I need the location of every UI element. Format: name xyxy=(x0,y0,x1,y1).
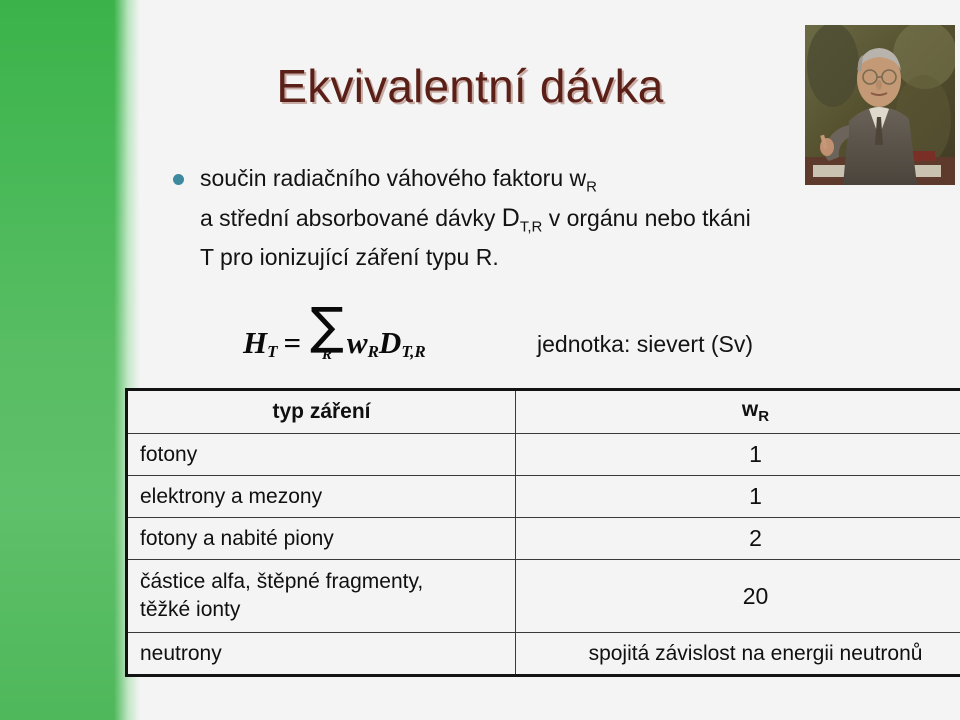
portrait-artwork xyxy=(805,25,955,185)
page-title: Ekvivalentní dávka xyxy=(150,58,790,114)
cell-type-line-2: těžké ionty xyxy=(140,596,503,624)
equation-summation: ∑R xyxy=(307,305,347,362)
cell-value: 20 xyxy=(516,560,960,633)
bullet-line-3: T pro ionizující záření typu R. xyxy=(200,242,860,272)
cell-type: elektrony a mezony xyxy=(127,476,516,518)
table-body: fotony 1 elektrony a mezony 1 fotony a n… xyxy=(127,434,960,676)
table-row: fotony 1 xyxy=(127,434,960,476)
column-header-wr: wR xyxy=(516,390,960,434)
table-row: elektrony a mezony 1 xyxy=(127,476,960,518)
bullet-line-2-variable: D xyxy=(502,204,520,232)
column-header-wr-subscript: R xyxy=(758,409,769,426)
equation-term-w-subscript: R xyxy=(368,342,379,361)
cell-value: 1 xyxy=(516,476,960,518)
radiation-weighting-table: typ záření wR fotony 1 elektrony a mezon… xyxy=(125,388,960,677)
equation-lhs: H xyxy=(243,325,267,360)
slide: Ekvivalentní dávka součin radiačního váh… xyxy=(0,0,960,720)
equation-term-w: w xyxy=(347,325,368,360)
bullet-item: součin radiačního váhového faktoru wR a … xyxy=(170,163,860,272)
bullet-line-1-text: součin radiačního váhového faktoru w xyxy=(200,165,586,191)
bullet-line-2-post: v orgánu nebo tkáni xyxy=(542,205,750,231)
bullet-dot-icon xyxy=(173,174,184,185)
bullet-line-2: a střední absorbované dávky DT,R v orgán… xyxy=(200,203,860,243)
portrait-image xyxy=(805,25,955,185)
cell-type: fotony xyxy=(127,434,516,476)
cell-type: částice alfa, štěpné fragmenty,těžké ion… xyxy=(127,560,516,633)
cell-value: 1 xyxy=(516,434,960,476)
column-header-wr-main: w xyxy=(742,398,758,421)
bullet-line-2-pre: a střední absorbované dávky xyxy=(200,205,502,231)
cell-type: fotony a nabité piony xyxy=(127,518,516,560)
cell-type-line-1: částice alfa, štěpné fragmenty, xyxy=(140,568,503,596)
table-row: fotony a nabité piony 2 xyxy=(127,518,960,560)
equation-image: HT=∑RwRDT,R xyxy=(243,305,426,362)
unit-caption: jednotka: sievert (Sv) xyxy=(537,331,753,358)
equation-term-d: D xyxy=(379,325,401,360)
sigma-icon: ∑ xyxy=(310,305,344,347)
table-header-row: typ záření wR xyxy=(127,390,960,434)
bullet-line-1: součin radiačního váhového faktoru wR xyxy=(200,163,860,203)
table-row: částice alfa, štěpné fragmenty,těžké ion… xyxy=(127,560,960,633)
equation-term-d-subscript: T,R xyxy=(401,342,425,361)
equation-lhs-subscript: T xyxy=(267,342,277,361)
sidebar-decoration xyxy=(0,0,140,720)
bullet-line-2-subscript: T,R xyxy=(520,218,543,235)
equation-equals-sign: = xyxy=(278,325,308,360)
table-head: typ záření wR xyxy=(127,390,960,434)
cell-value: 2 xyxy=(516,518,960,560)
column-header-type: typ záření xyxy=(127,390,516,434)
cell-value: spojitá závislost na energii neutronů xyxy=(516,633,960,676)
cell-type: neutrony xyxy=(127,633,516,676)
bullet-block: součin radiačního váhového faktoru wR a … xyxy=(170,163,860,272)
bullet-line-1-subscript: R xyxy=(586,179,597,196)
table-row: neutrony spojitá závislost na energii ne… xyxy=(127,633,960,676)
